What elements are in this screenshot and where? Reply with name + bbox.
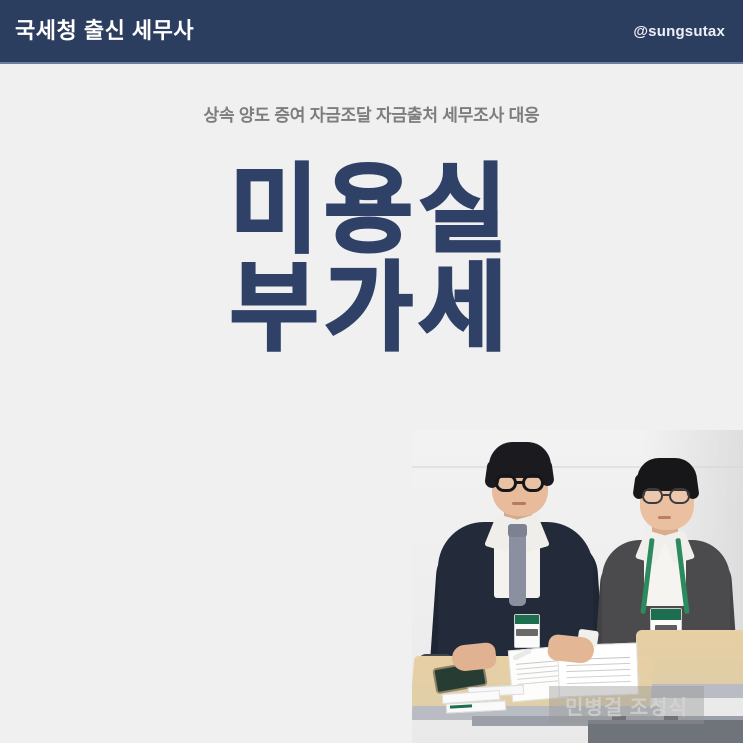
person-left-glasses-bridge <box>516 481 524 484</box>
headline-line-1: 미용실 <box>0 162 743 260</box>
person-left-hand-left <box>451 642 497 672</box>
headline-block: 미용실 부가세 <box>0 162 743 358</box>
watermark-names: 민병걸 조성식 <box>565 691 688 720</box>
person-left-glasses-lens-left <box>495 474 517 492</box>
person-right-glasses-lens-right <box>669 488 690 504</box>
person-left-name-badge-header <box>515 615 539 624</box>
person-left-tie-knot <box>508 524 527 537</box>
person-left-glasses-lens-right <box>522 474 544 492</box>
person-right-glasses-lens-left <box>642 488 663 504</box>
header-bar: 국세청 출신 세무사 @sungsutax <box>0 0 743 64</box>
promo-card: 국세청 출신 세무사 @sungsutax 상속 양도 증여 자금조달 자금출처… <box>0 0 743 743</box>
person-right-name-badge-header <box>651 609 681 620</box>
person-left-necktie <box>509 528 526 606</box>
person-left-mouth <box>512 502 526 505</box>
person-left-name-badge-text <box>516 629 538 636</box>
watermark-box: 민병걸 조성식 <box>549 686 704 724</box>
social-handle: @sungsutax <box>633 24 725 39</box>
person-right-mouth <box>658 516 671 519</box>
brand-title: 국세청 출신 세무사 <box>15 20 194 42</box>
person-left-hand-right <box>547 634 595 665</box>
headline-line-2: 부가세 <box>0 260 743 358</box>
service-subtitle: 상속 양도 증여 자금조달 자금출처 세무조사 대응 <box>0 101 743 126</box>
person-right-glasses-bridge <box>663 494 670 496</box>
